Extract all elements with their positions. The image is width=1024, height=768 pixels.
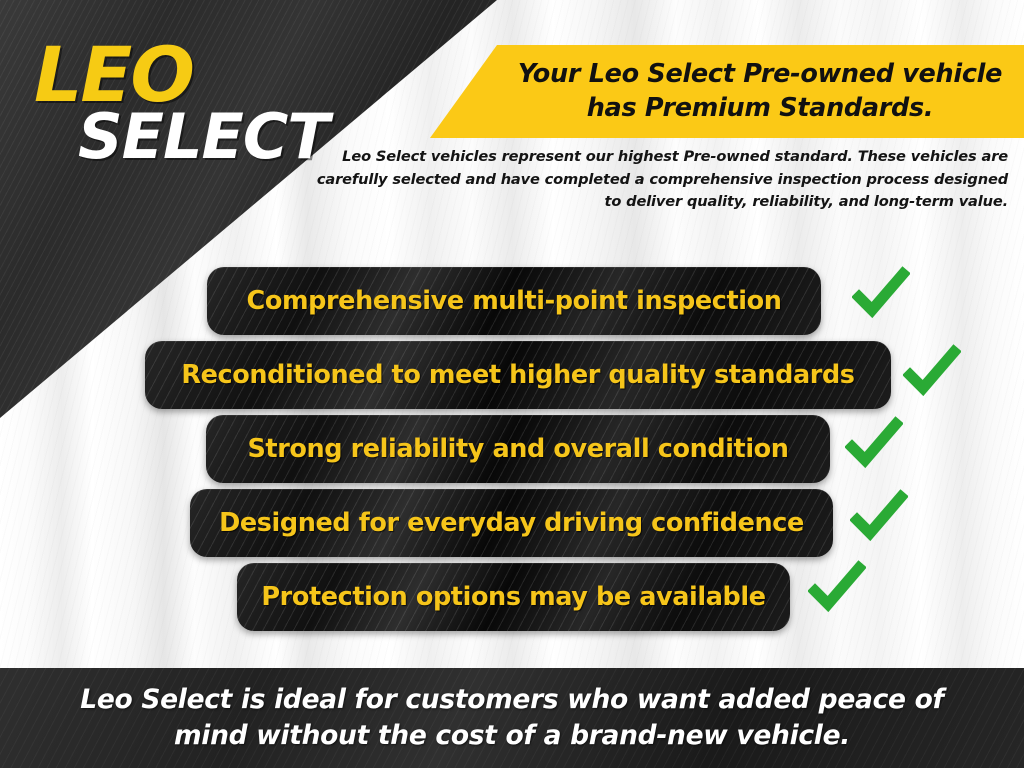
leo-select-poster: LEO SELECT Your Leo Select Pre-owned veh… xyxy=(0,0,1024,768)
green-check-icon xyxy=(845,416,903,474)
feature-label: Reconditioned to meet higher quality sta… xyxy=(181,360,854,390)
feature-label: Strong reliability and overall condition xyxy=(247,434,788,464)
brand-logo: LEO SELECT xyxy=(34,38,334,168)
feature-label: Designed for everyday driving confidence xyxy=(219,508,804,538)
headline-text: Your Leo Select Pre-owned vehicle has Pr… xyxy=(510,57,1010,125)
feature-row: Designed for everyday driving confidence xyxy=(0,486,1024,560)
green-check-icon xyxy=(808,560,866,618)
green-check-icon xyxy=(903,344,961,402)
feature-pill: Reconditioned to meet higher quality sta… xyxy=(145,341,891,409)
footer-text: Leo Select is ideal for customers who wa… xyxy=(0,682,1024,754)
logo-word-select: SELECT xyxy=(78,106,334,168)
green-check-icon xyxy=(852,266,910,324)
feature-pill: Designed for everyday driving confidence xyxy=(190,489,833,557)
feature-pill: Strong reliability and overall condition xyxy=(206,415,830,483)
feature-row: Reconditioned to meet higher quality sta… xyxy=(0,338,1024,412)
feature-pill: Protection options may be available xyxy=(237,563,790,631)
feature-list: Comprehensive multi-point inspection Rec… xyxy=(0,264,1024,634)
feature-label: Comprehensive multi-point inspection xyxy=(247,286,782,316)
footer-band: Leo Select is ideal for customers who wa… xyxy=(0,668,1024,768)
headline-banner: Your Leo Select Pre-owned vehicle has Pr… xyxy=(430,45,1024,138)
feature-row: Comprehensive multi-point inspection xyxy=(0,264,1024,338)
feature-pill: Comprehensive multi-point inspection xyxy=(207,267,821,335)
feature-row: Strong reliability and overall condition xyxy=(0,412,1024,486)
green-check-icon xyxy=(850,489,908,547)
feature-label: Protection options may be available xyxy=(261,582,765,612)
intro-paragraph: Leo Select vehicles represent our highes… xyxy=(300,146,1008,214)
feature-row: Protection options may be available xyxy=(0,560,1024,634)
